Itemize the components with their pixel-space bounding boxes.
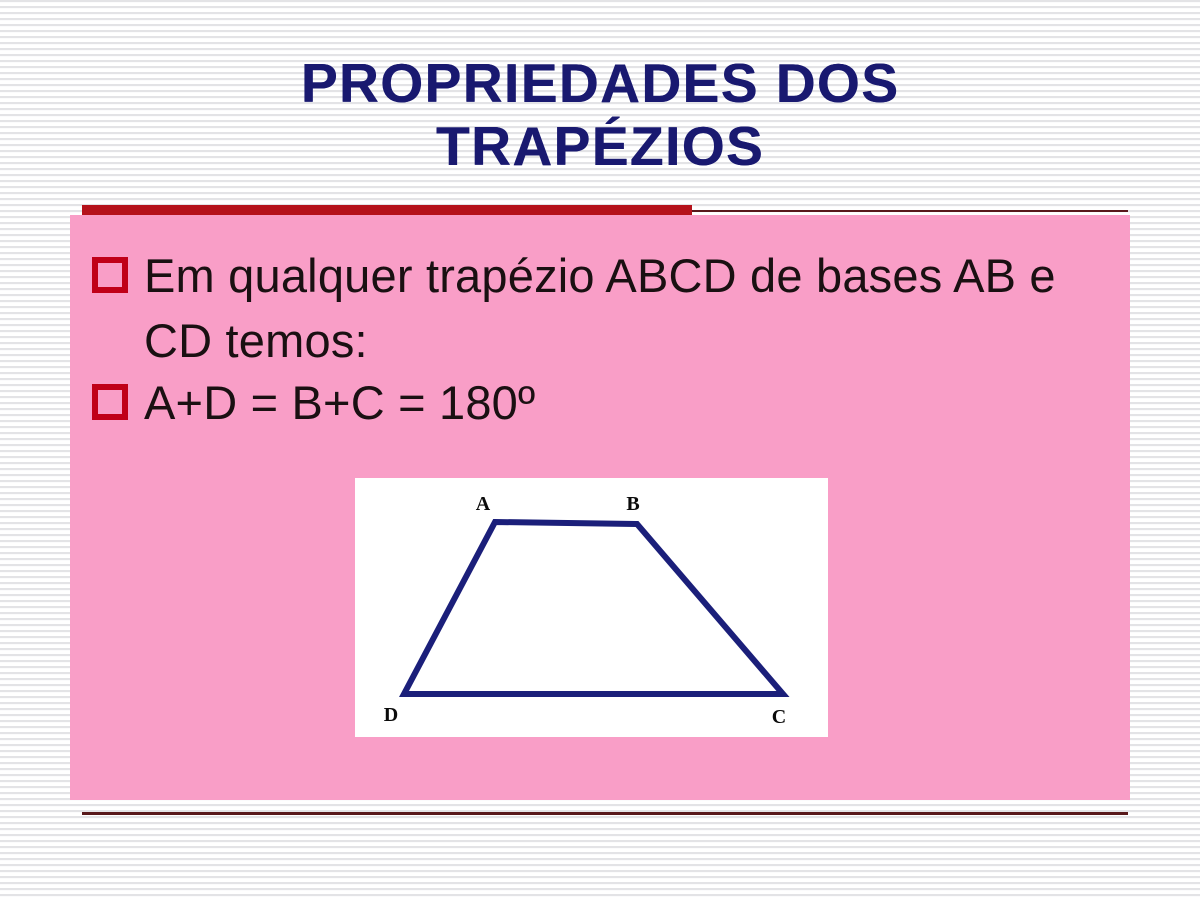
bullet-item-2: A+D = B+C = 180º: [92, 370, 1092, 435]
content-panel: Em qualquer trapézio ABCD de bases AB e …: [70, 215, 1130, 800]
bullet-item-1: Em qualquer trapézio ABCD de bases AB e …: [92, 243, 1092, 373]
title-line-1: PROPRIEDADES DOS: [70, 52, 1130, 115]
title-line-2: TRAPÉZIOS: [70, 115, 1130, 178]
bullet-item-1-text: Em qualquer trapézio ABCD de bases AB e …: [144, 243, 1092, 373]
slide-canvas: PROPRIEDADES DOS TRAPÉZIOS Em qualquer t…: [0, 0, 1200, 900]
hollow-square-bullet-icon: [92, 384, 128, 420]
trapezoid-figure-container: A B C D: [355, 478, 828, 737]
vertex-label-D: D: [384, 704, 398, 726]
bottom-rule: [82, 812, 1128, 815]
bullet-item-2-text: A+D = B+C = 180º: [144, 370, 1092, 435]
vertex-label-B: B: [626, 493, 639, 515]
figure-background: [355, 478, 828, 737]
hollow-square-bullet-icon: [92, 257, 128, 293]
vertex-label-A: A: [476, 493, 491, 515]
vertex-label-C: C: [772, 706, 786, 728]
page-title: PROPRIEDADES DOS TRAPÉZIOS: [70, 52, 1130, 178]
trapezoid-ABCD-diagram: A B C D: [355, 478, 828, 737]
